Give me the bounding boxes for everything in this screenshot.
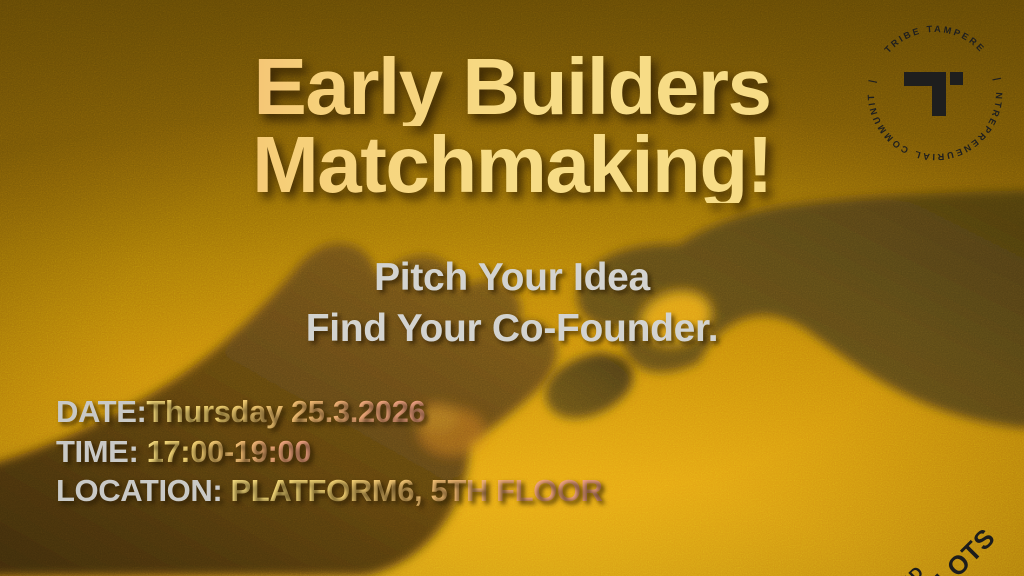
time-label: TIME:	[56, 434, 147, 469]
tribe-t-mark-icon	[904, 72, 963, 116]
subtitle-line-1: Pitch Your Idea	[0, 253, 1024, 304]
logo-separator-left: |	[867, 77, 878, 84]
logo-separator-right: |	[992, 77, 1003, 84]
tribe-tampere-logo: TRIBE TAMPERE ENTREPRENEURIAL COMMUNITY …	[860, 18, 1010, 168]
event-poster: Early Builders Matchmaking! Pitch Your I…	[0, 0, 1024, 576]
time-value: 17:00-19:00	[147, 434, 312, 469]
poster-subtitle: Pitch Your Idea Find Your Co-Founder.	[0, 253, 1024, 354]
location-label: LOCATION:	[56, 473, 231, 508]
date-label: DATE:	[56, 394, 146, 429]
subtitle-line-2: Find Your Co-Founder.	[0, 304, 1024, 355]
detail-row-date: DATE:Thursday 25.3.2026	[56, 392, 603, 432]
location-value: PLATFORM6, 5TH FLOOR	[231, 473, 603, 508]
logo-arc-top-text: TRIBE TAMPERE	[883, 24, 988, 55]
date-value: Thursday 25.3.2026	[146, 394, 425, 429]
detail-row-location: LOCATION: PLATFORM6, 5TH FLOOR	[56, 471, 603, 511]
detail-row-time: TIME: 17:00-19:00	[56, 432, 603, 472]
event-details: DATE:Thursday 25.3.2026 TIME: 17:00-19:0…	[56, 392, 603, 511]
